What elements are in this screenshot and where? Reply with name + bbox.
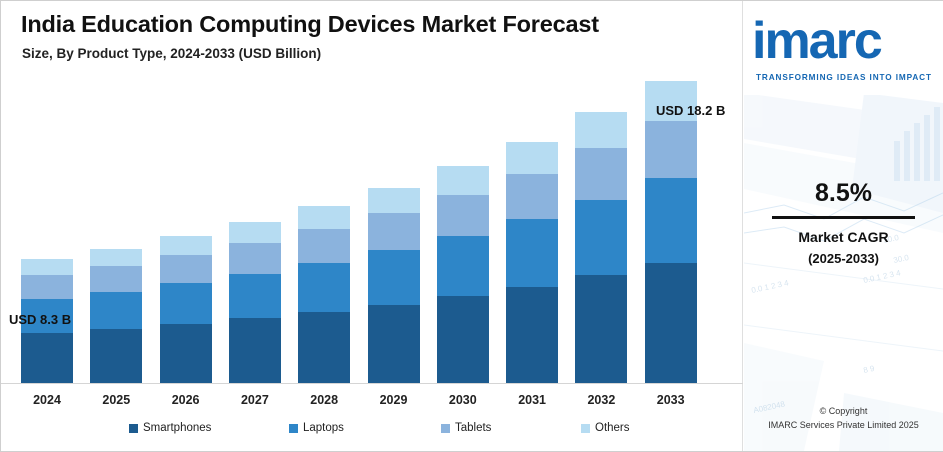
bar-segment: [160, 236, 212, 255]
x-axis-label: 2033: [635, 393, 707, 407]
copyright-line-1: © Copyright: [744, 406, 943, 416]
bar-segment: [21, 259, 73, 275]
logo-wordmark: imarc: [752, 11, 881, 71]
bar-group: [575, 112, 627, 383]
legend-swatch: [129, 424, 138, 433]
bar-segment: [368, 213, 420, 250]
legend-swatch: [289, 424, 298, 433]
x-axis-label: 2030: [427, 393, 499, 407]
bar-group: [90, 249, 142, 383]
decorative-background-art: 0.0 1 2 3 4 50.0 30.0 0.0 1 2 3 4 A08204…: [744, 93, 943, 451]
x-axis-label: 2025: [80, 393, 152, 407]
legend-item: Laptops: [289, 422, 344, 434]
copyright-line-2: IMARC Services Private Limited 2025: [744, 420, 943, 430]
bar-group: [160, 236, 212, 383]
bar-segment: [645, 178, 697, 262]
bar-segment: [645, 263, 697, 383]
bar-segment: [437, 195, 489, 236]
bar-segment: [575, 112, 627, 148]
bar-segment: [575, 275, 627, 383]
legend-swatch: [581, 424, 590, 433]
bar-segment: [506, 287, 558, 383]
bar-group: [298, 206, 350, 383]
plot-area: [1, 73, 743, 383]
x-axis-label: 2032: [565, 393, 637, 407]
bar-segment: [298, 206, 350, 229]
cagr-period: (2025-2033): [744, 251, 943, 266]
bar-segment: [90, 329, 142, 383]
bar-segment: [21, 333, 73, 383]
side-panel: 0.0 1 2 3 4 50.0 30.0 0.0 1 2 3 4 A08204…: [744, 1, 943, 451]
cagr-value: 8.5%: [744, 179, 943, 208]
chart-page: India Education Computing Devices Market…: [0, 0, 943, 452]
chart-panel: India Education Computing Devices Market…: [1, 1, 743, 451]
chart-title: India Education Computing Devices Market…: [21, 11, 599, 38]
x-axis-label: 2031: [496, 393, 568, 407]
bar-segment: [298, 229, 350, 263]
bar-group: [645, 81, 697, 383]
legend-item: Others: [581, 422, 630, 434]
bar-group: [368, 188, 420, 383]
bar-segment: [368, 188, 420, 213]
bar-segment: [506, 142, 558, 173]
logo-tagline: TRANSFORMING IDEAS INTO IMPACT: [756, 73, 932, 82]
bar-segment: [437, 236, 489, 297]
x-axis-label: 2028: [288, 393, 360, 407]
bar-segment: [575, 148, 627, 200]
legend-swatch: [441, 424, 450, 433]
imarc-logo: imarc TRANSFORMING IDEAS INTO IMPACT: [744, 1, 943, 95]
bar-segment: [298, 312, 350, 383]
legend-label: Smartphones: [143, 422, 211, 434]
x-axis-label: 2024: [11, 393, 83, 407]
bar-group: [506, 142, 558, 383]
x-axis-label: 2026: [150, 393, 222, 407]
cagr-label: Market CAGR: [744, 229, 943, 245]
bar-segment: [506, 219, 558, 286]
legend-label: Others: [595, 422, 630, 434]
cagr-divider: [772, 216, 915, 219]
bar-segment: [645, 121, 697, 179]
x-axis-line: [1, 383, 743, 384]
bar-segment: [575, 200, 627, 276]
bar-group: [229, 222, 281, 383]
legend-label: Tablets: [455, 422, 491, 434]
bar-segment: [160, 324, 212, 383]
bar-segment: [160, 255, 212, 283]
bar-segment: [21, 275, 73, 299]
legend-item: Tablets: [441, 422, 491, 434]
bar-segment: [229, 243, 281, 273]
legend-label: Laptops: [303, 422, 344, 434]
bar-segment: [437, 296, 489, 383]
chart-subtitle: Size, By Product Type, 2024-2033 (USD Bi…: [22, 46, 321, 61]
bar-segment: [229, 318, 281, 383]
chart-legend: SmartphonesLaptopsTabletsOthers: [1, 419, 743, 449]
bar-segment: [368, 250, 420, 304]
x-axis-label: 2029: [358, 393, 430, 407]
start-value-annotation: USD 8.3 B: [9, 312, 71, 327]
bar-segment: [90, 266, 142, 291]
bar-segment: [506, 174, 558, 220]
x-axis-label: 2027: [219, 393, 291, 407]
end-value-annotation: USD 18.2 B: [656, 103, 725, 118]
bar-segment: [368, 305, 420, 383]
bar-segment: [90, 292, 142, 329]
bar-group: [437, 166, 489, 383]
bar-segment: [437, 166, 489, 194]
bar-segment: [90, 249, 142, 266]
legend-item: Smartphones: [129, 422, 211, 434]
bar-segment: [160, 283, 212, 324]
bar-segment: [298, 263, 350, 312]
bar-segment: [229, 274, 281, 319]
bar-segment: [229, 222, 281, 243]
